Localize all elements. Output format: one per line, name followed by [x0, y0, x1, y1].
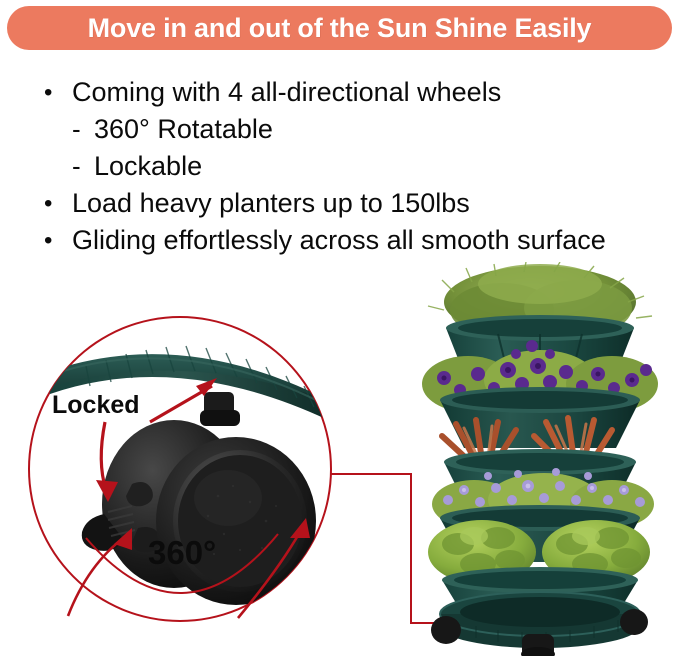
- feature-item: • Load heavy planters up to 150lbs: [44, 185, 674, 222]
- bullet-icon: •: [44, 185, 72, 222]
- feature-list: • Coming with 4 all-directional wheels -…: [44, 74, 674, 259]
- rotation-label: 360°: [148, 535, 216, 571]
- planter-tower-photo: [398, 262, 679, 656]
- caster-right: [620, 609, 648, 635]
- dash-icon: -: [72, 111, 94, 148]
- feature-text: 360° Rotatable: [94, 111, 273, 148]
- caster-left: [431, 616, 461, 644]
- feature-text: Coming with 4 all-directional wheels: [72, 74, 501, 111]
- feature-text: Lockable: [94, 148, 202, 185]
- feature-subitem: - Lockable: [44, 148, 674, 185]
- feature-subitem: - 360° Rotatable: [44, 111, 674, 148]
- feature-text: Load heavy planters up to 150lbs: [72, 185, 470, 222]
- locked-label: Locked: [52, 392, 140, 418]
- header-banner: Move in and out of the Sun Shine Easily: [7, 6, 672, 50]
- caster-illustration: [28, 316, 332, 622]
- bullet-icon: •: [44, 222, 72, 259]
- dash-icon: -: [72, 148, 94, 185]
- feature-item: • Gliding effortlessly across all smooth…: [44, 222, 674, 259]
- feature-item: • Coming with 4 all-directional wheels: [44, 74, 674, 111]
- bullet-icon: •: [44, 74, 72, 111]
- product-feature-card: Move in and out of the Sun Shine Easily …: [0, 0, 679, 656]
- caster-stem: [200, 392, 240, 426]
- planter-tower-illustration: [398, 262, 679, 656]
- caster-closeup-callout: [28, 316, 332, 622]
- caster-wheel: [82, 420, 316, 605]
- page-title: Move in and out of the Sun Shine Easily: [88, 15, 592, 42]
- feature-text: Gliding effortlessly across all smooth s…: [72, 222, 606, 259]
